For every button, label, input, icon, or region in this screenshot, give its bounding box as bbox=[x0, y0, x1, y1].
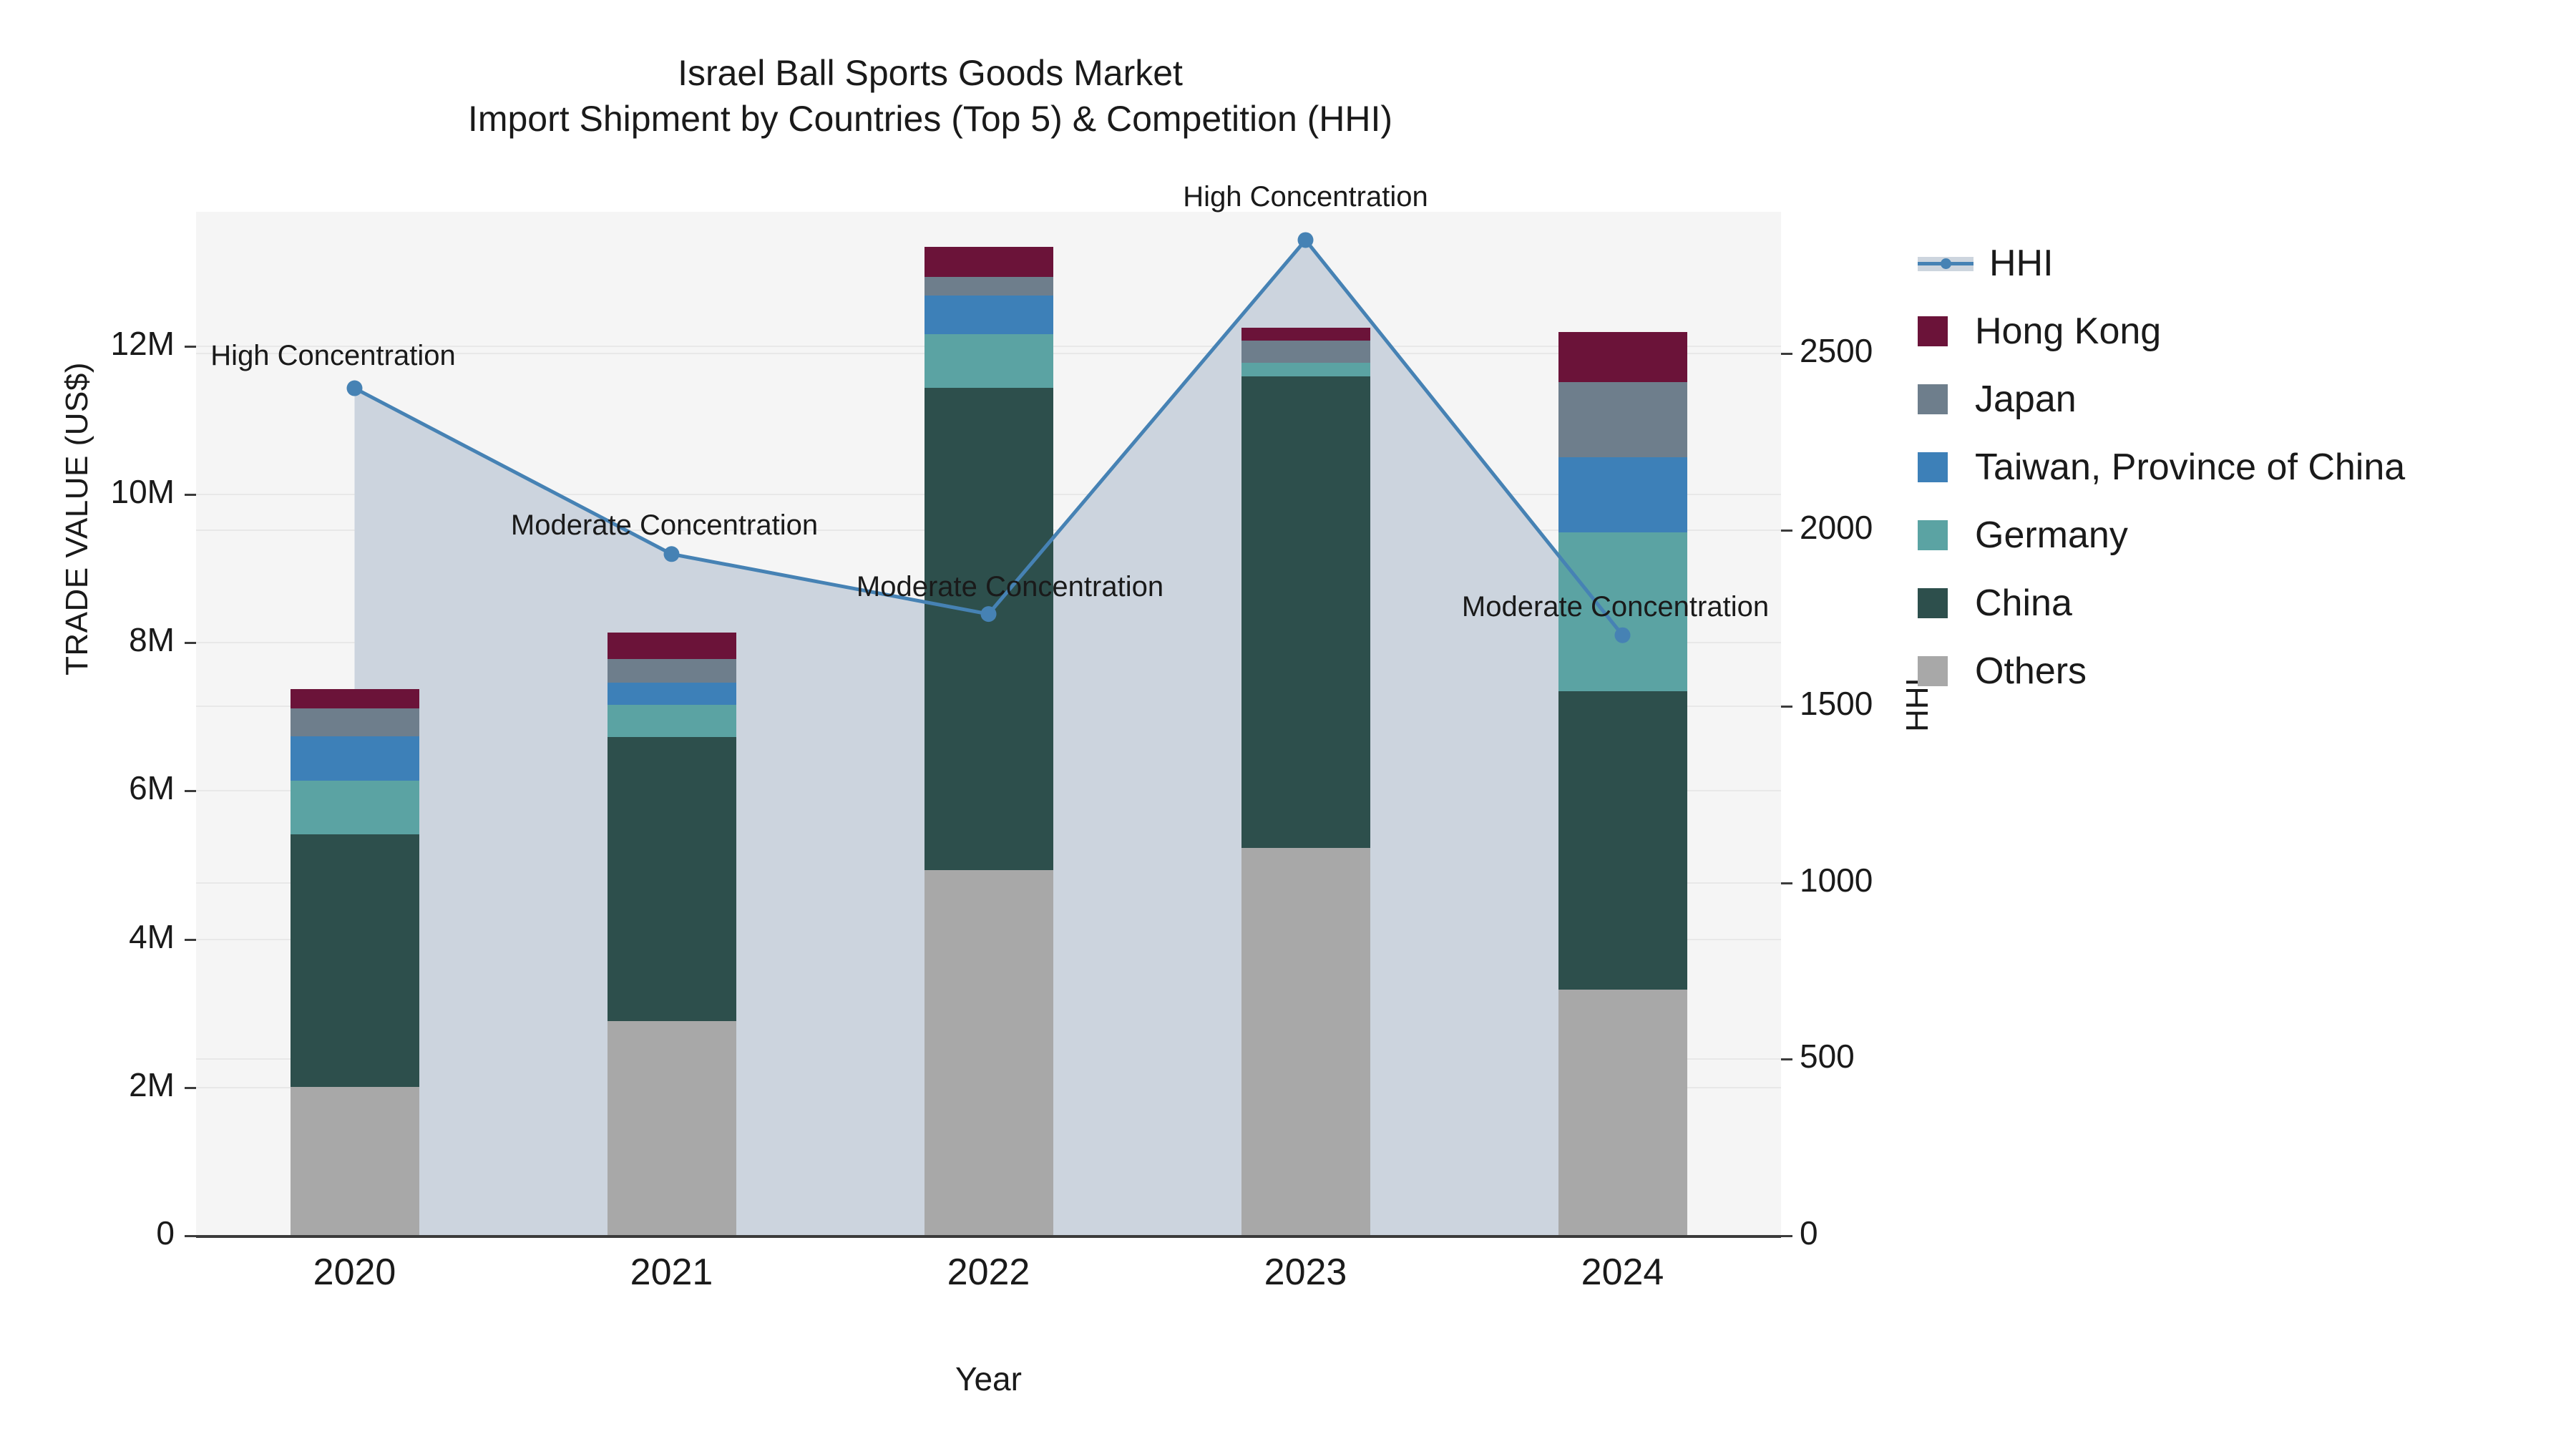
hhi-point[interactable] bbox=[981, 606, 997, 622]
legend-item[interactable]: China bbox=[1918, 569, 2405, 637]
legend-swatch bbox=[1918, 316, 1948, 346]
concentration-annotation: Moderate Concentration bbox=[1462, 591, 1769, 623]
y2-tick-mark bbox=[1781, 1235, 1792, 1237]
legend-swatch bbox=[1918, 384, 1948, 414]
y2-tick-label: 0 bbox=[1800, 1214, 1971, 1252]
legend-swatch bbox=[1918, 588, 1948, 618]
chart-title: Israel Ball Sports Goods Market Import S… bbox=[0, 50, 1860, 142]
title-line-1: Israel Ball Sports Goods Market bbox=[0, 50, 1860, 96]
y-tick-mark bbox=[185, 494, 196, 496]
hhi-point[interactable] bbox=[347, 381, 363, 396]
legend-item[interactable]: Taiwan, Province of China bbox=[1918, 433, 2405, 501]
hhi-line-icon bbox=[1918, 248, 1974, 278]
chart-root: Israel Ball Sports Goods Market Import S… bbox=[0, 0, 2576, 1449]
legend-label: Japan bbox=[1975, 378, 2077, 421]
y-tick-mark bbox=[185, 1087, 196, 1089]
legend-label: Hong Kong bbox=[1975, 310, 2161, 353]
y2-tick-mark bbox=[1781, 530, 1792, 532]
legend-item[interactable]: Hong Kong bbox=[1918, 297, 2405, 365]
y-tick-label: 0 bbox=[17, 1214, 175, 1252]
hhi-point[interactable] bbox=[1298, 232, 1314, 248]
x-tick-label: 2020 bbox=[248, 1251, 462, 1294]
legend-item[interactable]: Japan bbox=[1918, 365, 2405, 433]
concentration-annotation: High Concentration bbox=[210, 340, 455, 372]
y2-tick-mark bbox=[1781, 353, 1792, 355]
x-axis-title: Year bbox=[196, 1360, 1781, 1398]
x-tick-label: 2023 bbox=[1199, 1251, 1413, 1294]
y2-tick-mark bbox=[1781, 1058, 1792, 1060]
legend-item[interactable]: Others bbox=[1918, 637, 2405, 705]
legend-swatch bbox=[1918, 520, 1948, 550]
x-tick-label: 2024 bbox=[1516, 1251, 1730, 1294]
hhi-point[interactable] bbox=[1615, 628, 1631, 643]
x-axis-line bbox=[196, 1235, 1781, 1238]
y-axis-title: TRADE VALUE (US$) bbox=[59, 304, 95, 733]
y-tick-mark bbox=[185, 790, 196, 792]
y2-tick-label: 500 bbox=[1800, 1037, 1971, 1075]
y-tick-mark bbox=[185, 939, 196, 941]
x-tick-label: 2021 bbox=[565, 1251, 779, 1294]
legend: HHIHong KongJapanTaiwan, Province of Chi… bbox=[1918, 229, 2405, 705]
legend-item[interactable]: HHI bbox=[1918, 229, 2405, 297]
legend-swatch bbox=[1918, 656, 1948, 686]
y2-tick-mark bbox=[1781, 882, 1792, 884]
legend-label: HHI bbox=[1989, 242, 2054, 285]
y2-tick-mark bbox=[1781, 706, 1792, 708]
y-tick-label: 12M bbox=[17, 324, 175, 363]
y2-tick-label: 1000 bbox=[1800, 861, 1971, 899]
y-tick-label: 8M bbox=[17, 620, 175, 659]
concentration-annotation: Moderate Concentration bbox=[511, 509, 818, 542]
y-tick-label: 4M bbox=[17, 917, 175, 956]
y-tick-mark bbox=[185, 1235, 196, 1237]
hhi-point[interactable] bbox=[664, 546, 680, 562]
y-tick-label: 6M bbox=[17, 769, 175, 807]
y-tick-label: 10M bbox=[17, 472, 175, 511]
legend-label: China bbox=[1975, 582, 2072, 625]
legend-item[interactable]: Germany bbox=[1918, 501, 2405, 569]
y-tick-mark bbox=[185, 346, 196, 348]
legend-label: Germany bbox=[1975, 514, 2128, 557]
x-tick-label: 2022 bbox=[882, 1251, 1096, 1294]
concentration-annotation: High Concentration bbox=[1183, 181, 1428, 213]
legend-label: Taiwan, Province of China bbox=[1975, 446, 2405, 489]
concentration-annotation: Moderate Concentration bbox=[857, 571, 1163, 603]
y-tick-label: 2M bbox=[17, 1065, 175, 1104]
legend-label: Others bbox=[1975, 650, 2087, 693]
legend-swatch bbox=[1918, 452, 1948, 482]
y-tick-mark bbox=[185, 642, 196, 644]
title-line-2: Import Shipment by Countries (Top 5) & C… bbox=[0, 96, 1860, 142]
